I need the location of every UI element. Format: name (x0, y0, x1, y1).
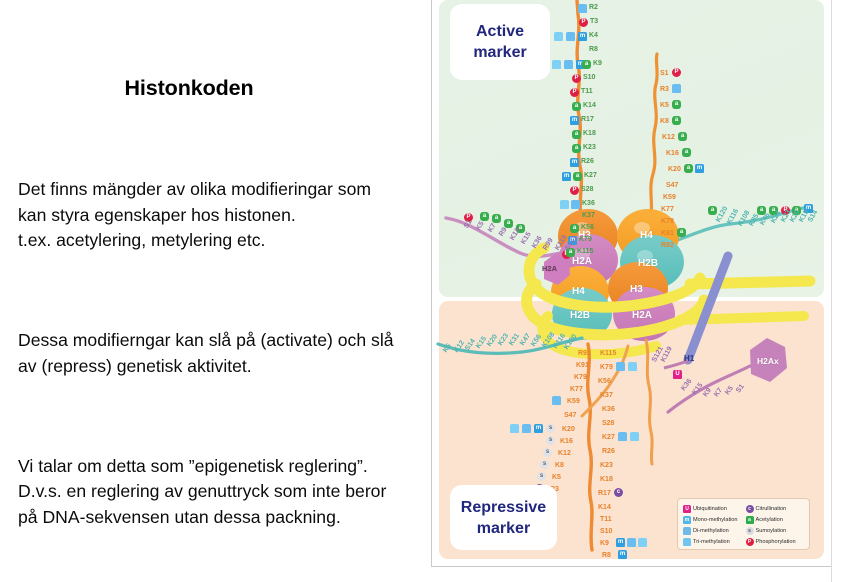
residue-label: K5 (660, 102, 669, 109)
residue-label: K16 (666, 150, 679, 157)
residue-label: S28 (602, 420, 614, 427)
residue-label: T11 (581, 88, 593, 95)
histone-label-h2a-back: H2A (572, 256, 592, 267)
legend-label: Di-methylation (693, 528, 729, 534)
di-methylation-icon (566, 32, 575, 41)
sumoylation-icon: s (546, 436, 555, 445)
histone-modification-figure: H3 H4 H2A H2B H4 H3 H2B H2A H2A H2Ax H1 … (431, 0, 832, 567)
acetylation-icon: a (573, 172, 582, 181)
residue-label: K91 (661, 230, 674, 237)
di-methylation-icon (683, 527, 691, 535)
legend-label: Sumoylation (756, 528, 787, 534)
residue-label: K8 (555, 462, 564, 469)
tri-methylation-icon (560, 200, 569, 209)
di-methylation-icon (578, 4, 587, 13)
residue-label: K5 (552, 474, 561, 481)
histone-label-h1: H1 (684, 354, 694, 363)
residue-label: K23 (600, 462, 613, 469)
mono-methylation-icon: m (562, 172, 571, 181)
ubiquitination-icon: U (673, 370, 682, 379)
sumoylation-icon: s (746, 527, 754, 535)
phosphorylation-icon: P (572, 74, 581, 83)
legend-item-mono-methylation: m Mono-methylation (683, 516, 742, 524)
residue-label: K77 (570, 386, 583, 393)
legend-item-ubiquitination: U Ubiquitination (683, 505, 742, 513)
acetylation-icon: a (492, 214, 501, 223)
residue-label: K18 (600, 476, 613, 483)
residue-label: K37 (582, 212, 595, 219)
residue-label: K18 (583, 130, 596, 137)
paragraph-3: Vi talar om detta som ”epigenetisk regle… (18, 454, 430, 530)
acetylation-icon: a (684, 164, 693, 173)
active-marker-label: Active marker (450, 4, 550, 80)
residue-label: K36 (582, 200, 595, 207)
mono-methylation-icon: m (695, 164, 704, 173)
residue-label: K59 (567, 398, 580, 405)
residue-label: R8 (602, 552, 611, 559)
sumoylation-icon: s (543, 448, 552, 457)
legend-item-citrullination: c Citrullination (746, 505, 805, 513)
mono-methylation-icon: m (683, 516, 691, 524)
sumoylation-icon: s (537, 472, 546, 481)
repressive-marker-text: Repressive marker (461, 497, 546, 539)
residue-label: K37 (600, 392, 613, 399)
acetylation-icon: a (672, 116, 681, 125)
residue-label: K4 (589, 32, 598, 39)
residue-label: K12 (662, 134, 675, 141)
mono-methylation-icon: m (570, 116, 579, 125)
residue-label: S1 (660, 70, 669, 77)
residue-label: S10 (600, 528, 612, 535)
tri-methylation-icon (630, 432, 639, 441)
histone-label-h2a-hex: H2A (542, 264, 557, 273)
residue-label: K79 (600, 364, 613, 371)
histone-label-h2ax: H2Ax (757, 356, 779, 366)
mono-methylation-icon: m (616, 538, 625, 547)
residue-label: S47 (564, 412, 576, 419)
sumoylation-icon: s (546, 424, 555, 433)
sumoylation-icon: s (540, 460, 549, 469)
tri-methylation-icon (638, 538, 647, 547)
mono-methylation-icon: m (570, 158, 579, 167)
acetylation-icon: a (678, 132, 687, 141)
tri-methylation-icon (510, 424, 519, 433)
residue-label: K79 (574, 374, 587, 381)
tri-methylation-icon (552, 60, 561, 69)
acetylation-icon: a (672, 100, 681, 109)
legend-item-sumoylation: s Sumoylation (746, 527, 805, 535)
residue-label: K56 (598, 378, 611, 385)
residue-label: K36 (602, 406, 615, 413)
histone-label-h3-front: H3 (630, 284, 643, 295)
residue-label: K27 (602, 434, 615, 441)
phosphorylation-icon: P (579, 18, 588, 27)
legend-label: Mono-methylation (693, 517, 737, 523)
text-column: Histonkoden Det finns mängder av olika m… (0, 0, 428, 582)
page-title: Histonkoden (0, 76, 378, 101)
citrullination-icon: c (614, 488, 623, 497)
histone-label-h2b-front: H2B (570, 310, 590, 321)
legend-item-tri-methylation: Tri-methylation (683, 538, 742, 546)
phosphorylation-icon: P (672, 68, 681, 77)
residue-label: R26 (581, 158, 594, 165)
residue-label: S28 (581, 186, 593, 193)
residue-label: R17 (598, 490, 611, 497)
residue-label: T3 (590, 18, 598, 25)
residue-label: K79 (661, 218, 674, 225)
di-methylation-icon (564, 60, 573, 69)
acetylation-icon: a (570, 224, 579, 233)
tri-methylation-icon (683, 538, 691, 546)
histone-label-h2a-front: H2A (632, 310, 652, 321)
ubiquitination-icon: U (683, 505, 691, 513)
residue-label: K14 (598, 504, 611, 511)
residue-label: K20 (562, 426, 575, 433)
residue-label: K12 (558, 450, 571, 457)
residue-label: R92 (661, 242, 674, 249)
acetylation-icon: a (504, 219, 513, 228)
legend-label: Tri-methylation (693, 539, 730, 545)
citrullination-icon: c (746, 505, 754, 513)
residue-label: K56 (581, 224, 594, 231)
residue-label: R26 (602, 448, 615, 455)
legend-item-di-methylation: Di-methylation (683, 527, 742, 535)
repressive-marker-label: Repressive marker (450, 485, 557, 550)
legend-label: Acetylation (756, 517, 783, 523)
residue-label: K8 (660, 118, 669, 125)
body-text: Det finns mängder av olika modifieringar… (18, 127, 430, 582)
residue-label: K9 (593, 60, 602, 67)
residue-label: T11 (600, 516, 612, 523)
tri-methylation-icon (628, 362, 637, 371)
acetylation-icon: a (708, 206, 717, 215)
acetylation-icon: a (677, 228, 686, 237)
paragraph-1: Det finns mängder av olika modifieringar… (18, 177, 430, 253)
acetylation-icon: a (572, 130, 581, 139)
di-methylation-icon (672, 84, 681, 93)
acetylation-icon: a (682, 148, 691, 157)
acetylation-icon: a (480, 212, 489, 221)
residue-label: K91 (576, 362, 589, 369)
di-methylation-icon (616, 362, 625, 371)
mono-methylation-icon: m (534, 424, 543, 433)
legend-label: Citrullination (756, 506, 787, 512)
residue-label: K16 (560, 438, 573, 445)
residue-label: R2 (589, 4, 598, 11)
residue-label: K20 (668, 166, 681, 173)
paragraph-2: Dessa modifierngar kan slå på (activate)… (18, 328, 430, 378)
residue-label: R3 (660, 86, 669, 93)
phosphorylation-icon: P (570, 186, 579, 195)
residue-label: K59 (663, 194, 676, 201)
residue-label: S10 (583, 74, 595, 81)
residue-label: R92 (578, 350, 591, 357)
acetylation-icon: a (572, 144, 581, 153)
acetylation-icon: a (746, 516, 754, 524)
acetylation-icon: a (582, 60, 591, 69)
slide-edge-divider (831, 0, 832, 582)
residue-label: K115 (600, 350, 616, 357)
di-methylation-icon (627, 538, 636, 547)
mono-methylation-icon: m (618, 550, 627, 559)
residue-label: K23 (583, 144, 596, 151)
di-methylation-icon (618, 432, 627, 441)
legend: U Ubiquitination c Citrullination m Mono… (677, 498, 810, 550)
di-methylation-icon (552, 396, 561, 405)
residue-label: K14 (583, 102, 596, 109)
slide: Histonkoden Det finns mängder av olika m… (0, 0, 848, 582)
legend-label: Ubiquitination (693, 506, 727, 512)
di-methylation-icon (571, 200, 580, 209)
mono-methylation-icon: m (578, 32, 587, 41)
residue-label: K115 (577, 248, 593, 255)
histone-label-h2b-back: H2B (638, 258, 658, 269)
figure-inner: H3 H4 H2A H2B H4 H3 H2B H2A H2A H2Ax H1 … (432, 0, 831, 566)
phosphorylation-icon: P (570, 88, 579, 97)
residue-label: K77 (661, 206, 674, 213)
acetylation-icon: a (572, 102, 581, 111)
histone-label-h4-back: H4 (640, 230, 653, 241)
residue-label: K79 (579, 236, 592, 243)
legend-item-acetylation: a Acetylation (746, 516, 805, 524)
legend-item-phosphorylation: P Phosphorylation (746, 538, 805, 546)
residue-label: R17 (581, 116, 594, 123)
tri-methylation-icon (554, 32, 563, 41)
residue-label: K9 (600, 540, 609, 547)
residue-label: S47 (666, 182, 678, 189)
histone-label-h4-front: H4 (572, 286, 585, 297)
di-methylation-icon (522, 424, 531, 433)
residue-label: K27 (584, 172, 597, 179)
legend-label: Phosphorylation (756, 539, 796, 545)
active-marker-text: Active marker (473, 21, 526, 63)
residue-label: R8 (589, 46, 598, 53)
phosphorylation-icon: P (746, 538, 754, 546)
